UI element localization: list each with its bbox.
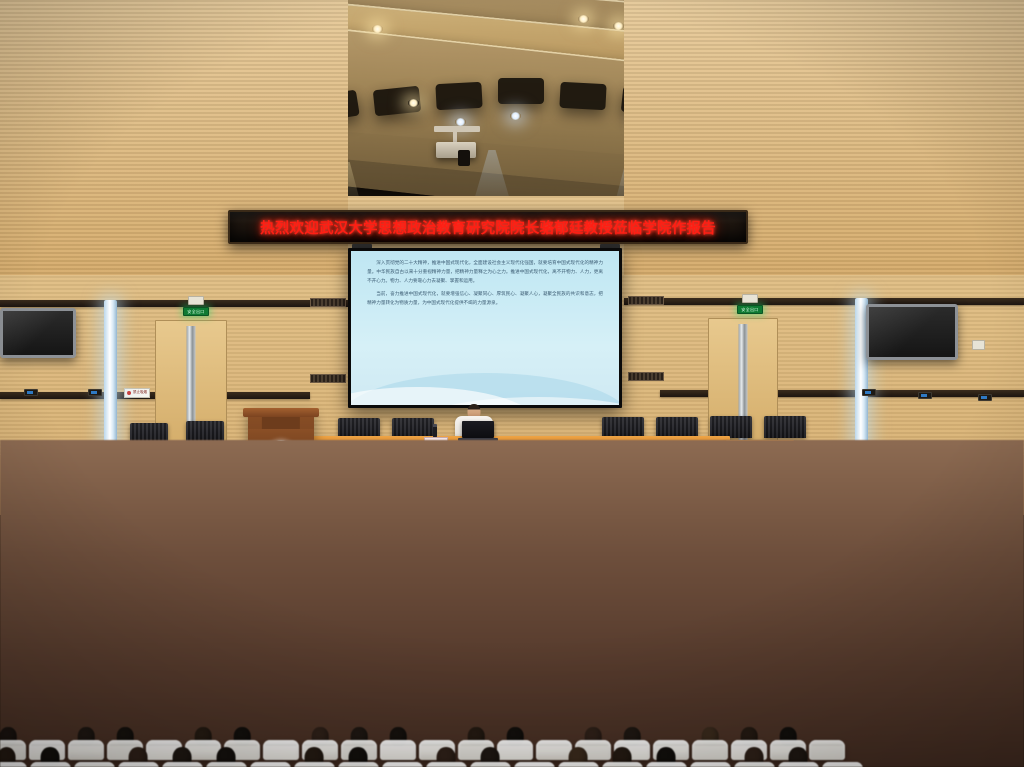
slide-paragraph-2: 当前，奋力推进中国式现代化，就要增强信心、凝聚同心、厚筑民心、凝聚人心，凝聚全民… [367,291,603,309]
audience-seat[interactable] [426,762,467,767]
audience-seat[interactable] [68,740,104,760]
audience-seat[interactable] [602,762,643,767]
audience-seat[interactable] [294,762,335,767]
ceiling-spotlight [613,22,624,30]
head-table-chair [710,416,752,438]
projected-slide: 深入贯彻党的二十大精神，推进中国式现代化，全面建设社会主义现代化强国，就要培育中… [351,251,619,405]
ceiling-fin-gap [435,82,482,110]
no-smoking-icon [127,391,131,395]
wall-vent-left-upper [310,298,346,307]
audience-seat[interactable] [338,762,379,767]
audience-seat[interactable] [162,762,203,767]
audience-seat[interactable] [822,762,863,767]
ceiling-spotlight [455,118,466,126]
lecture-hall-photo: 安全出口 安全出口 禁止吸烟 热烈欢迎武汉大学思想政治教育研究院院长骆郁廷教授莅… [0,0,1024,767]
lectern-neck [262,417,300,429]
audience-seat[interactable] [263,740,299,760]
slide-paragraph-1: 深入贯彻党的二十大精神，推进中国式现代化，全面建设社会主义现代化强国，就要培育中… [367,260,603,287]
banner-text: 热烈欢迎武汉大学思想政治教育研究院院长骆郁廷教授莅临学院作报告 [260,217,716,238]
audience-seating-area [0,440,1024,767]
audience-floor [0,440,1024,767]
wall-control-box-1 [24,389,38,396]
ceiling-fin-gap [498,78,544,104]
wall-control-box-5 [978,394,992,401]
wall-monitor-left [0,308,76,358]
audience-seat[interactable] [809,740,845,760]
wall-outlet-right [972,340,985,350]
speaker-laptop[interactable] [462,421,494,438]
exit-sign-left: 安全出口 [183,307,209,316]
audience-seat[interactable] [118,762,159,767]
slide-body-text: 深入贯彻党的二十大精神，推进中国式现代化，全面建设社会主义现代化强国，就要培育中… [367,260,603,313]
ceiling-spotlight [510,112,521,120]
audience-seat[interactable] [74,762,115,767]
audience-seat[interactable] [382,762,423,767]
water-bottle [433,424,437,438]
audience-seat[interactable] [514,762,555,767]
emergency-light-box-right [742,294,758,303]
wall-control-box-3 [862,389,876,396]
projection-screen: 深入贯彻党的二十大精神，推进中国式现代化，全面建设社会主义现代化强国，就要培育中… [348,248,622,408]
wall-trim-band-upper-right [624,298,1024,305]
audience-seat[interactable] [497,740,533,760]
lectern-top [243,408,319,417]
wall-vent-right-upper [628,296,664,305]
ceiling-spotlight [372,25,383,33]
wall-vent-left-lower [310,374,346,383]
led-welcome-banner: 热烈欢迎武汉大学思想政治教育研究院院长骆郁廷教授莅临学院作报告 [228,210,748,244]
audience-seat[interactable] [30,762,71,767]
audience-seat[interactable] [470,762,511,767]
wall-monitor-right [866,304,958,360]
audience-seat[interactable] [536,740,572,760]
exit-sign-left-label: 安全出口 [187,310,204,314]
wall-vent-right-lower [628,372,664,381]
exit-sign-right-label: 安全出口 [741,308,758,312]
wall-trim-band-upper-left [0,300,348,307]
no-smoking-label: 禁止吸烟 [133,391,147,395]
audience-seat[interactable] [646,762,687,767]
ceiling-fin-gap [559,82,606,110]
audience-seat[interactable] [206,762,247,767]
projector-body [436,142,476,158]
wall-control-box-4 [918,392,932,399]
audience-seat[interactable] [558,762,599,767]
audience-seat[interactable] [692,740,728,760]
audience-seat[interactable] [690,762,731,767]
audience-seat[interactable] [380,740,416,760]
exit-sign-right: 安全出口 [737,305,763,314]
wall-control-box-2 [88,389,102,396]
audience-seat[interactable] [734,762,775,767]
audience-seat[interactable] [250,762,291,767]
projector-lens [458,150,470,166]
projector-mount-plate [434,126,480,132]
ceiling-spotlight [578,15,589,23]
audience-seat[interactable] [0,762,27,767]
audience-seat[interactable] [778,762,819,767]
head-table-chair [764,416,806,438]
emergency-light-box-left [188,296,204,305]
ceiling-spotlight [408,99,419,107]
no-smoking-sign: 禁止吸烟 [124,388,150,398]
